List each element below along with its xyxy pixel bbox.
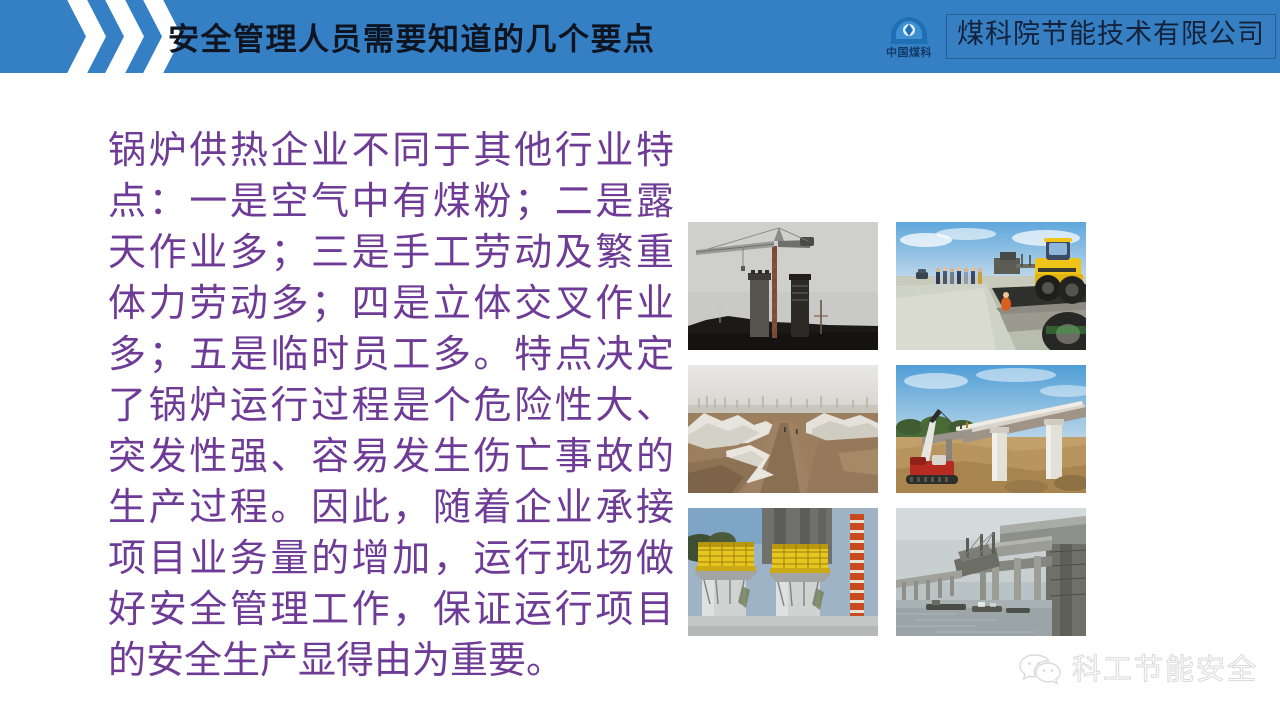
bridge-over-water-photo	[896, 508, 1086, 636]
tower-crane-construction-photo	[688, 222, 878, 350]
road-paving-roller-photo	[896, 222, 1086, 350]
main-paragraph: 锅炉供热企业不同于其他行业特点：一是空气中有煤粉；二是露天作业多；三是手工劳动及…	[108, 125, 674, 686]
pier-formwork-photo	[688, 508, 878, 636]
wechat-icon	[1018, 652, 1064, 686]
chevron-right-icon	[98, 0, 144, 73]
watermark-text: 科工节能安全	[1072, 655, 1258, 684]
chevron-right-icon	[60, 0, 106, 73]
page-title: 安全管理人员需要知道的几个要点	[168, 0, 656, 73]
earthwork-excavation-photo	[688, 365, 878, 493]
bridge-girder-erection-photo	[896, 365, 1086, 493]
logo-text: 中国煤科	[886, 47, 932, 58]
slide: 安全管理人员需要知道的几个要点 中国煤科 煤科院节能技术有限公司 锅炉供热企业不…	[0, 0, 1280, 720]
double-chevron-right-icon	[60, 0, 180, 73]
zhongguomeike-emblem-icon: 中国煤科	[878, 8, 940, 66]
brand-block: 中国煤科 煤科院节能技术有限公司	[878, 0, 1280, 73]
company-name: 煤科院节能技术有限公司	[957, 19, 1265, 50]
company-name-box: 煤科院节能技术有限公司	[946, 14, 1276, 58]
photo-grid	[688, 222, 1086, 634]
wechat-watermark: 科工节能安全	[1018, 652, 1258, 686]
header-bar: 安全管理人员需要知道的几个要点 中国煤科 煤科院节能技术有限公司	[0, 0, 1280, 73]
